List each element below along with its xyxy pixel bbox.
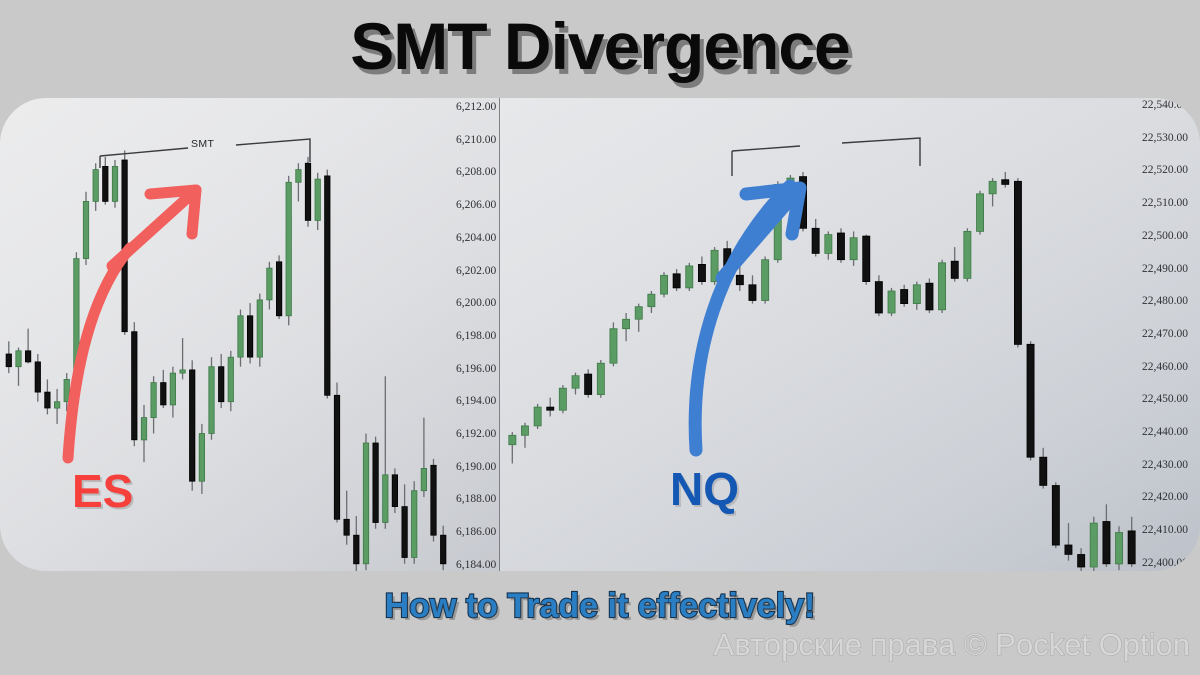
axis-tick: 22,510.00	[1142, 197, 1188, 209]
page-title: SMT Divergence	[0, 6, 1200, 86]
axis-tick: 6,198.00	[456, 330, 496, 342]
axis-tick: 22,400.00	[1142, 557, 1188, 569]
axis-tick: 22,540.00	[1142, 99, 1188, 111]
axis-tick: 6,206.00	[456, 199, 496, 211]
axis-tick: 6,192.00	[456, 428, 496, 440]
axis-tick: 22,410.00	[1142, 524, 1188, 536]
ticker-label-nq: NQ	[670, 466, 739, 512]
axis-tick: 6,202.00	[456, 265, 496, 277]
watermark: Авторские права © Pocket Option	[714, 626, 1190, 664]
axis-tick: 6,194.00	[456, 395, 496, 407]
price-axis-nq: 22,540.0022,530.0022,520.0022,510.0022,5…	[1142, 98, 1198, 571]
arrow-blue-nq	[500, 98, 1140, 571]
poster-canvas: SMT Divergence SMT ES 6,212.006,210	[0, 0, 1200, 675]
axis-tick: 6,210.00	[456, 134, 496, 146]
axis-tick: 22,460.00	[1142, 361, 1188, 373]
chart-panel-nq[interactable]: SMT NQ 22,540.0022,530.0022,520.0022,510…	[500, 98, 1200, 571]
price-axis-es: 6,212.006,210.006,208.006,206.006,204.00…	[456, 98, 500, 571]
axis-tick: 6,208.00	[456, 166, 496, 178]
axis-tick: 22,530.00	[1142, 132, 1188, 144]
axis-tick: 6,212.00	[456, 101, 496, 113]
axis-tick: 6,196.00	[456, 363, 496, 375]
axis-tick: 6,200.00	[456, 297, 496, 309]
ticker-label-es: ES	[72, 468, 133, 514]
axis-tick: 6,204.00	[456, 232, 496, 244]
axis-tick: 22,520.00	[1142, 164, 1188, 176]
axis-tick: 22,490.00	[1142, 263, 1188, 275]
axis-tick: 22,470.00	[1142, 328, 1188, 340]
axis-tick: 22,430.00	[1142, 459, 1188, 471]
axis-tick: 6,184.00	[456, 559, 496, 571]
axis-tick: 6,186.00	[456, 526, 496, 538]
axis-tick: 22,450.00	[1142, 393, 1188, 405]
axis-tick: 22,420.00	[1142, 491, 1188, 503]
axis-tick: 22,500.00	[1142, 230, 1188, 242]
arrow-red-es	[0, 98, 450, 571]
subtitle: How to Trade it effectively!	[0, 586, 1200, 626]
axis-tick: 22,480.00	[1142, 295, 1188, 307]
chart-panel-es[interactable]: SMT ES 6,212.006,210.006,208.006,206.006…	[0, 98, 500, 571]
charts-container: SMT ES 6,212.006,210.006,208.006,206.006…	[0, 98, 1200, 571]
axis-tick: 6,188.00	[456, 493, 496, 505]
axis-tick: 6,190.00	[456, 461, 496, 473]
axis-tick: 22,440.00	[1142, 426, 1188, 438]
